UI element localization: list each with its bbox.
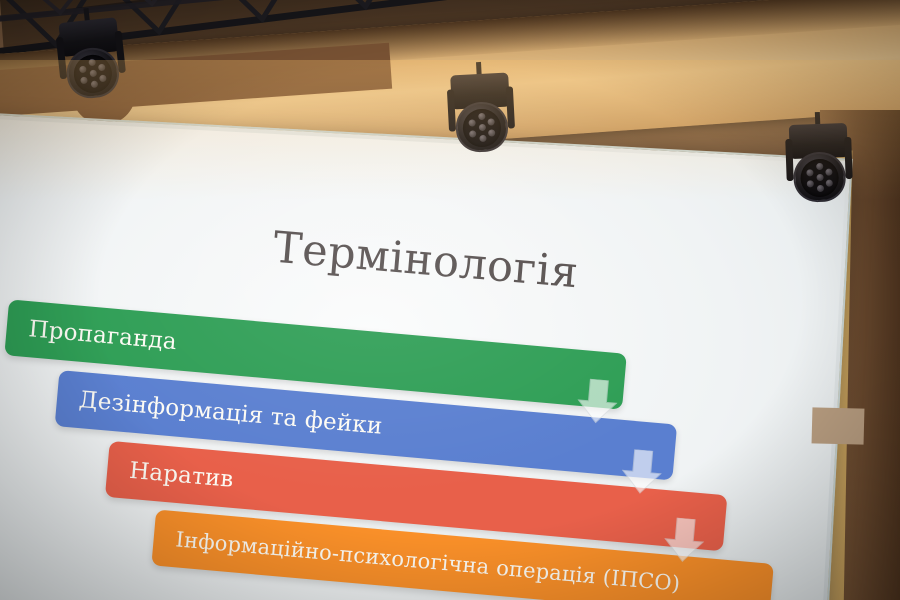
light-led	[826, 179, 833, 186]
flow-arrow-3	[662, 517, 706, 564]
light-led	[816, 174, 823, 181]
light-led	[88, 59, 96, 67]
stage-light-center	[450, 61, 513, 160]
light-led	[80, 76, 88, 84]
stage-light-right	[788, 111, 849, 209]
light-led	[469, 130, 476, 137]
light-led	[79, 65, 87, 73]
light-led	[89, 70, 97, 78]
projection-screen: Термінологія ПропагандаДезінформація та …	[0, 112, 853, 600]
light-led	[478, 124, 485, 131]
light-head	[455, 101, 510, 154]
screen-surface: Термінологія ПропагандаДезінформація та …	[0, 118, 846, 600]
light-led	[99, 74, 107, 82]
flow-arrow-2	[620, 448, 664, 495]
light-led	[479, 135, 486, 142]
screen-edge-tab	[812, 407, 865, 444]
light-led	[90, 81, 98, 89]
light-led	[98, 63, 106, 71]
stage-light-left	[57, 5, 125, 107]
light-arm-left	[785, 139, 793, 181]
light-head	[793, 151, 847, 203]
flow-arrow-1	[576, 378, 620, 425]
slide-title: Термінологія	[271, 223, 694, 308]
light-led	[488, 129, 495, 136]
light-led	[468, 119, 475, 126]
light-lens	[800, 158, 839, 197]
light-led	[825, 168, 832, 175]
light-led	[807, 180, 814, 187]
light-led	[806, 169, 813, 176]
light-lens	[72, 53, 114, 95]
light-led	[816, 185, 823, 192]
light-led	[816, 163, 823, 170]
light-led	[487, 118, 494, 125]
light-lens	[462, 108, 502, 148]
light-arm-right	[844, 137, 852, 179]
light-led	[478, 113, 485, 120]
auditorium-photo: Термінологія ПропагандаДезінформація та …	[0, 0, 900, 600]
